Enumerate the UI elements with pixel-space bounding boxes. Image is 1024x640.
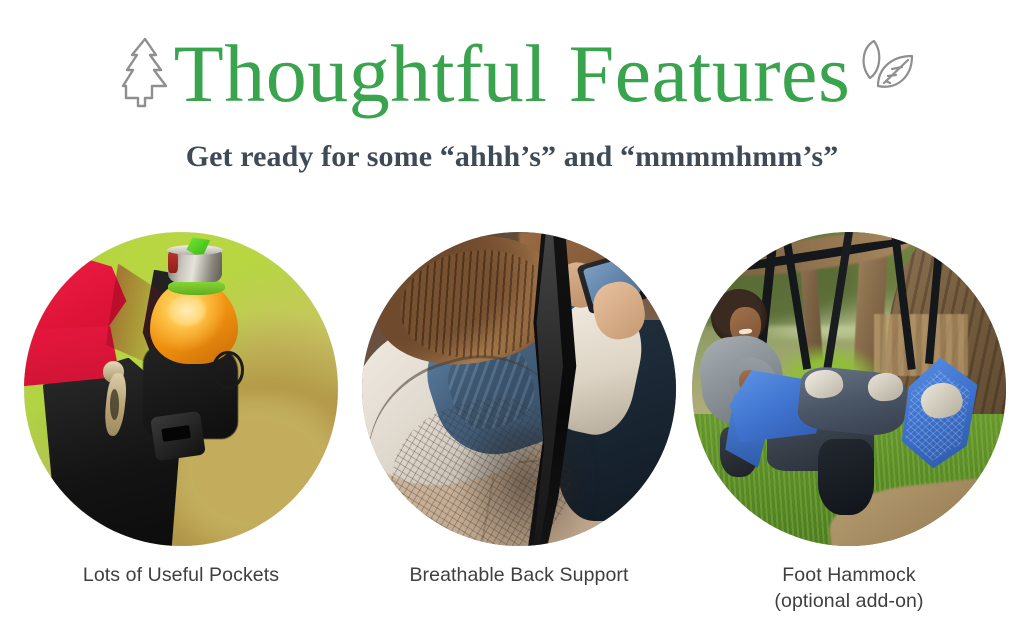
- feature-image-foot-hammock: [692, 232, 1006, 546]
- feature-item-pockets: Lots of Useful Pockets: [19, 232, 343, 588]
- feature-image-pockets: [24, 232, 338, 546]
- leaves-icon: [848, 38, 924, 104]
- section-subtitle: Get ready for some “ahhh’s” and “mmmmhmm…: [0, 138, 1024, 176]
- feature-image-back-support: [362, 232, 676, 546]
- feature-caption-foot-hammock-line2: (optional add-on): [687, 588, 1011, 614]
- feature-caption-foot-hammock-line1: Foot Hammock: [687, 562, 1011, 588]
- feature-item-foot-hammock: Foot Hammock (optional add-on): [687, 232, 1011, 614]
- section-header: Thoughtful Features Get ready for some “…: [0, 0, 1024, 200]
- feature-item-back-support: Breathable Back Support: [357, 232, 681, 588]
- feature-caption-pockets: Lots of Useful Pockets: [19, 562, 343, 588]
- page-title: Thoughtful Features: [174, 31, 851, 117]
- feature-caption-back-support: Breathable Back Support: [357, 562, 681, 588]
- feature-section: Thoughtful Features Get ready for some “…: [0, 0, 1024, 640]
- feature-list: Lots of Useful Pockets: [0, 232, 1024, 622]
- pine-tree-icon: [114, 36, 176, 114]
- feature-caption-foot-hammock: Foot Hammock (optional add-on): [687, 562, 1011, 614]
